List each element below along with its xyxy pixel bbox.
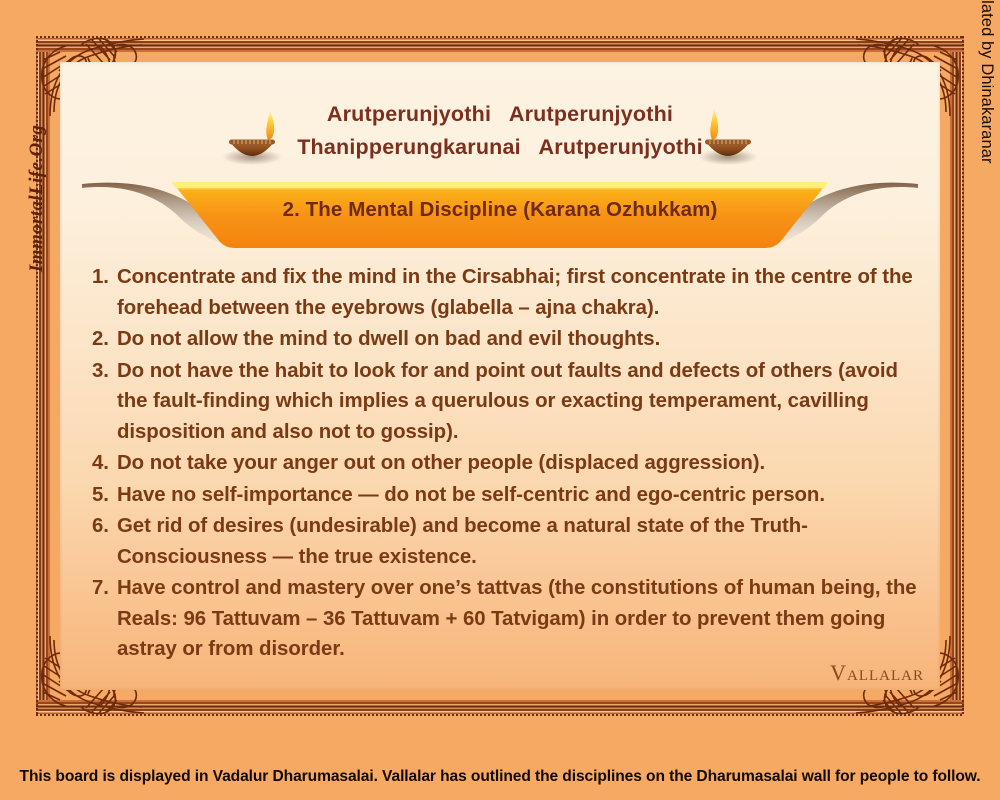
discipline-list: 1. Concentrate and fix the mind in the C… <box>92 262 922 666</box>
discipline-board: ImmortalLife.Org Translated by Dhinakara… <box>0 0 1000 800</box>
site-credit-left: ImmortalLife.Org <box>26 0 48 272</box>
invocation-block: Arutperunjyothi Arutperunjyothi Thanippe… <box>60 98 940 164</box>
list-item: 3. Do not have the habit to look for and… <box>92 356 922 448</box>
invocation-line-1: Arutperunjyothi Arutperunjyothi <box>60 98 940 131</box>
list-item-text: Do not allow the mind to dwell on bad an… <box>117 324 922 355</box>
list-item-text: Get rid of desires (undesirable) and bec… <box>117 511 922 572</box>
list-item-text: Have no self-importance — do not be self… <box>117 480 922 511</box>
list-item-number: 6. <box>92 511 117 542</box>
vallalar-wordmark: Vallalar <box>830 660 924 686</box>
list-item: 5. Have no self-importance — do not be s… <box>92 480 922 511</box>
list-item: 2. Do not allow the mind to dwell on bad… <box>92 324 922 355</box>
list-item-text: Concentrate and fix the mind in the Cirs… <box>117 262 922 323</box>
list-item: 1. Concentrate and fix the mind in the C… <box>92 262 922 323</box>
title-ribbon: 2. The Mental Discipline (Karana Ozhukka… <box>80 172 920 256</box>
board-caption: This board is displayed in Vadalur Dharu… <box>0 768 1000 786</box>
bead-rule-top <box>36 36 964 38</box>
list-item-text: Have control and mastery over one’s tatt… <box>117 573 922 665</box>
list-item-number: 5. <box>92 480 117 511</box>
bead-rule-bottom <box>36 714 964 716</box>
list-item: 7. Have control and mastery over one’s t… <box>92 573 922 665</box>
list-item-number: 3. <box>92 356 117 387</box>
list-item: 4. Do not take your anger out on other p… <box>92 448 922 479</box>
invocation-line-2: Thanipperungkarunai Arutperunjyothi <box>60 131 940 164</box>
list-item-number: 7. <box>92 573 117 604</box>
bead-rule-right <box>962 36 964 716</box>
list-item: 6. Get rid of desires (undesirable) and … <box>92 511 922 572</box>
list-item-number: 1. <box>92 262 117 293</box>
list-item-number: 4. <box>92 448 117 479</box>
list-item-text: Do not take your anger out on other peop… <box>117 448 922 479</box>
list-item-number: 2. <box>92 324 117 355</box>
page-title: 2. The Mental Discipline (Karana Ozhukka… <box>80 198 920 222</box>
content-panel: Arutperunjyothi Arutperunjyothi Thanippe… <box>60 62 940 690</box>
translator-credit-right: Translated by Dhinakaranar <box>977 0 996 258</box>
list-item-text: Do not have the habit to look for and po… <box>117 356 922 448</box>
